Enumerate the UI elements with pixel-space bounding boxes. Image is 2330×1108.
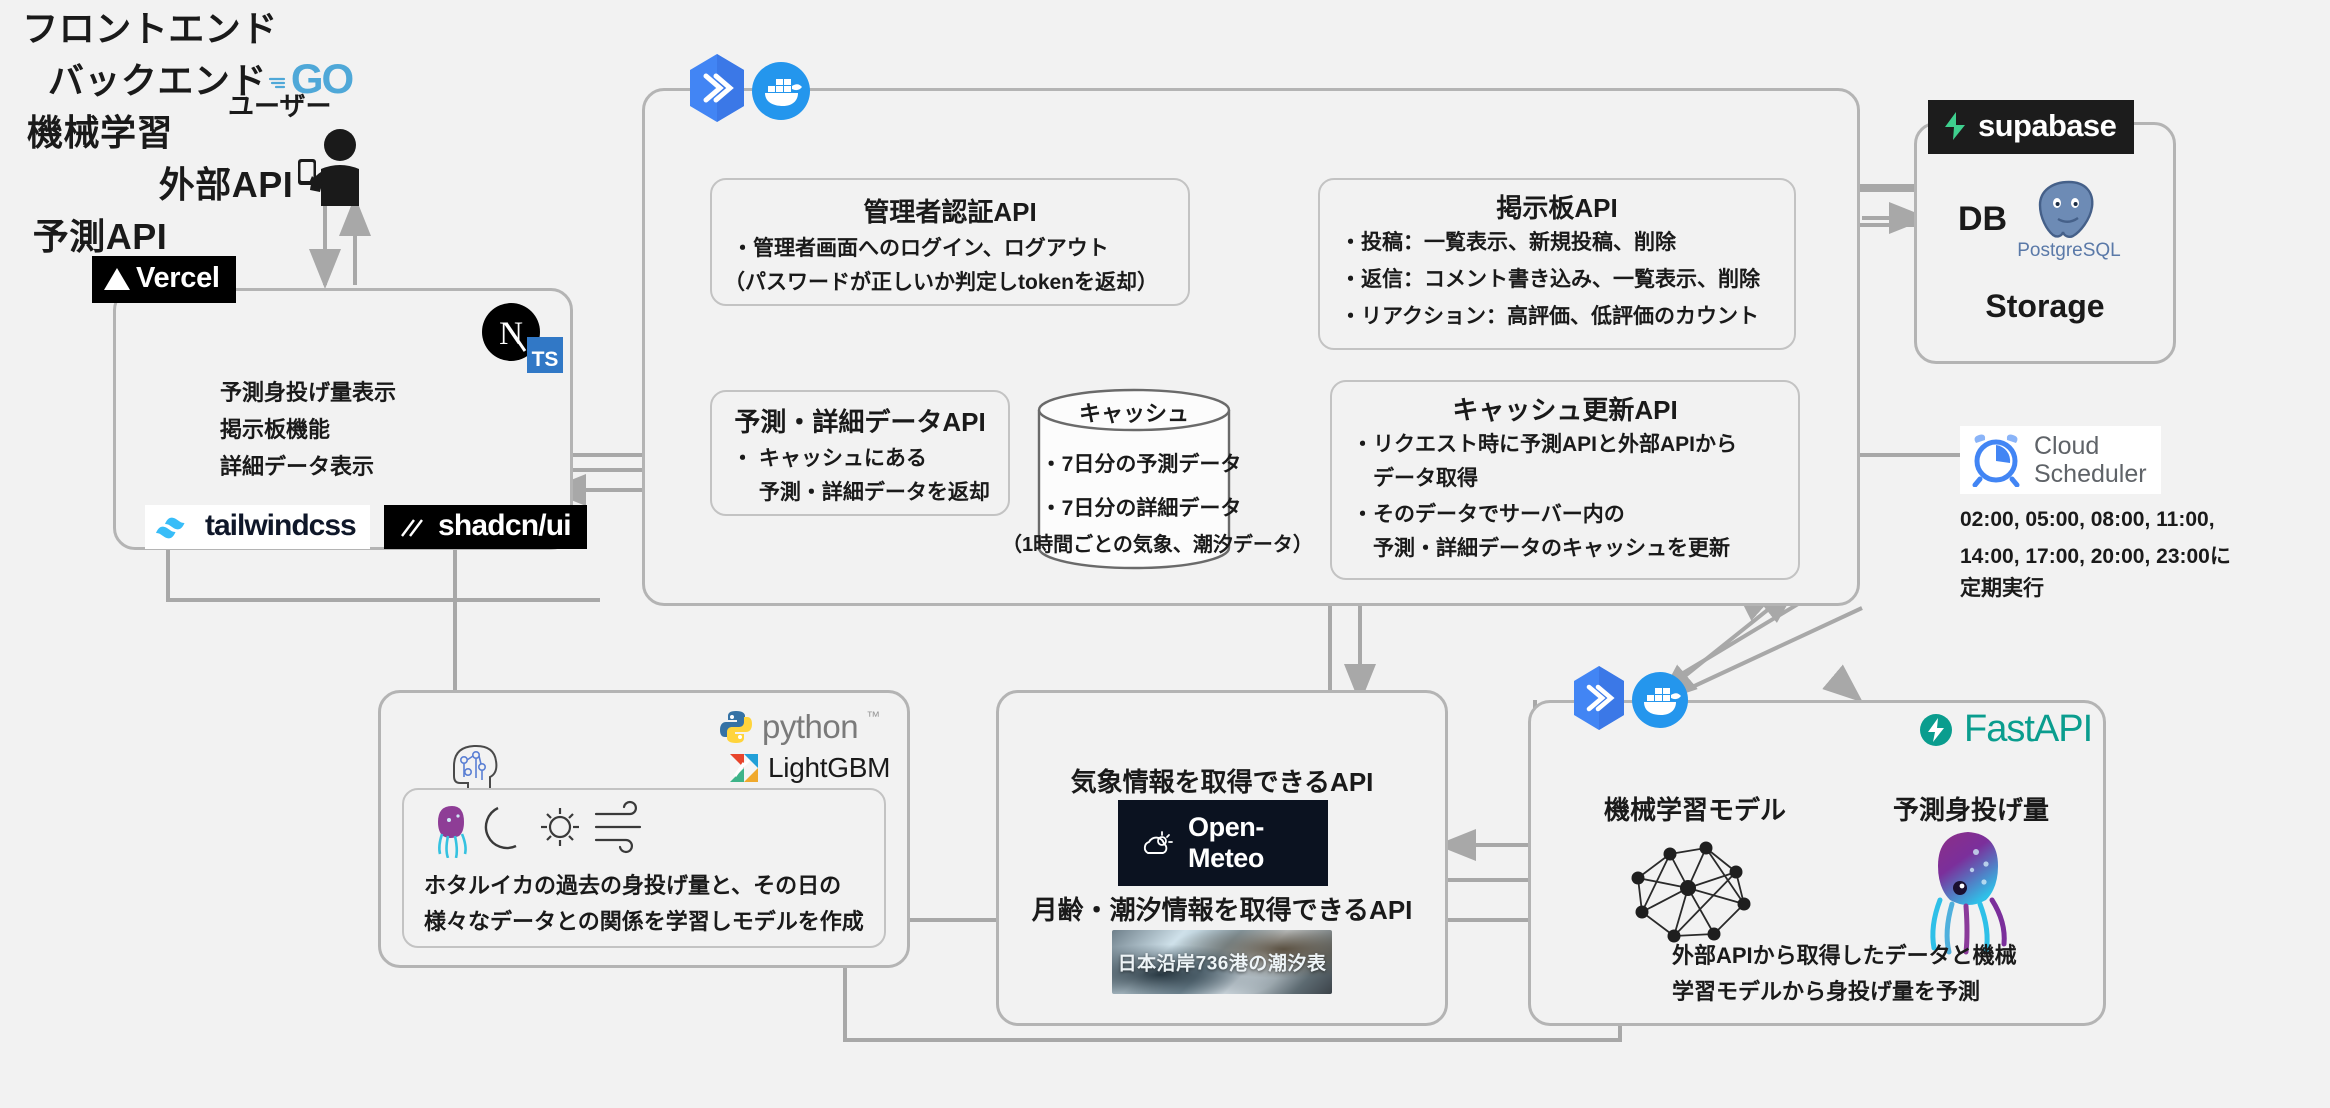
lightgbm-badge: LightGBM [728, 752, 890, 784]
cloudrun-icon-backend [686, 52, 748, 124]
prediction-detail-data-api-title: 予測・詳細データAPI [710, 402, 1010, 439]
supabase-storage-label: Storage [1914, 288, 2176, 325]
docker-icon-backend [752, 62, 810, 120]
python-logo-icon [718, 709, 754, 745]
cloud-scheduler-line-2: Scheduler [2034, 460, 2147, 488]
python-badge: python ™ [718, 708, 880, 746]
board-api-line-3: ・リアクション：高評価、低評価のカウント [1340, 300, 1759, 334]
board-api-line-1: ・投稿：一覧表示、新規投稿、削除 [1340, 226, 1676, 260]
admin-auth-api-line-1: ・管理者画面へのログイン、ログアウト [732, 232, 1109, 266]
cache-update-api-line-1: ・リクエスト時に予測APIと外部APIから [1352, 428, 1737, 462]
prediction-api-title: 予測API [0, 208, 200, 260]
tailwindcss-badge: tailwindcss [145, 505, 370, 549]
neural-network-icon [1618, 830, 1760, 952]
prediction-api-model-label: 機械学習モデル [1570, 790, 1820, 827]
user-label: ユーザー [228, 86, 331, 123]
cloud-scheduler-line-1: Cloud [2034, 432, 2147, 460]
admin-auth-api-title: 管理者認証API [710, 192, 1190, 229]
external-api-weather-caption: 気象情報を取得できるAPI [996, 762, 1448, 799]
ml-feature-icons [432, 800, 662, 858]
prediction-detail-data-api-line-2: 予測・詳細データを返却 [732, 476, 990, 510]
cache-title: キャッシュ [1036, 396, 1232, 428]
docker-icon-prediction [1632, 672, 1688, 728]
fastapi-badge: FastAPI [1918, 708, 2092, 751]
squid-icon-prediction [1916, 828, 2020, 956]
cache-note: （1時間ごとの気象、潮汐データ） [1002, 528, 1274, 557]
cache-line-1: ・7日分の予測データ [1036, 448, 1246, 478]
frontend-feature-1: 予測身投げ量表示 [220, 375, 396, 411]
fastapi-logo-icon [1918, 712, 1954, 748]
prediction-detail-data-api-line-1: ・ キャッシュにある [732, 442, 927, 476]
machine-learning-title: 機械学習 [0, 104, 200, 156]
cache-update-api-line-4: 予測・詳細データのキャッシュを更新 [1352, 532, 1730, 566]
shadcn-slash-icon [398, 514, 426, 538]
prediction-api-description-line-1: 外部APIから取得したデータと機械 [1672, 938, 2017, 970]
frontend-feature-2: 掲示板機能 [220, 412, 330, 448]
board-api-line-2: ・返信：コメント書き込み、一覧表示、削除 [1340, 263, 1760, 297]
ml-description-line-2: 様々なデータとの関係を学習しモデルを作成 [424, 904, 864, 936]
vercel-triangle-icon [104, 268, 130, 290]
cache-line-2: ・7日分の詳細データ [1036, 492, 1246, 522]
open-meteo-badge: Open-Meteo [1118, 800, 1328, 886]
admin-auth-api-line-2: （パスワードが正しいか判定しtokenを返却） [724, 266, 1158, 300]
lightgbm-logo-icon [728, 752, 760, 784]
external-api-tide-caption: 月齢・潮汐情報を取得できるAPI [996, 890, 1448, 927]
ml-description-line-1: ホタルイカの過去の身投げ量と、その日の [424, 868, 841, 900]
cloudrun-icon-prediction [1570, 664, 1628, 732]
board-api-title: 掲示板API [1318, 188, 1796, 225]
scheduler-schedule-line-2: 14:00, 17:00, 20:00, 23:00に [1960, 540, 2231, 570]
frontend-feature-3: 詳細データ表示 [220, 449, 374, 485]
external-api-title: 外部API [0, 156, 452, 208]
prediction-api-output-label: 予測身投げ量 [1846, 790, 2096, 827]
cache-update-api-title: キャッシュ更新API [1330, 390, 1800, 427]
typescript-logo-icon: TS [527, 337, 563, 373]
scheduler-schedule-line-1: 02:00, 05:00, 08:00, 11:00, [1960, 508, 2215, 532]
backend-title: バックエンド GO [0, 52, 400, 104]
tide-table-image: 日本沿岸736港の潮汐表 [1112, 930, 1332, 994]
partly-cloudy-icon [1142, 829, 1176, 857]
postgresql-elephant-icon [2030, 178, 2108, 244]
svg-text:N: N [499, 316, 523, 352]
frontend-title: フロントエンド [0, 0, 300, 52]
person-with-phone-icon [288, 128, 374, 206]
vercel-badge: Vercel [92, 256, 236, 303]
tailwind-wave-icon [155, 513, 195, 539]
cache-update-api-line-3: ・そのデータでサーバー内の [1352, 498, 1625, 532]
alarm-clock-icon [1968, 433, 2024, 487]
supabase-bolt-icon [1942, 111, 1968, 141]
scheduler-schedule-line-3: 定期実行 [1960, 572, 2044, 602]
prediction-api-description-line-2: 学習モデルから身投げ量を予測 [1672, 974, 1980, 1006]
supabase-db-label: DB [1958, 200, 2007, 239]
cloud-scheduler-badge: Cloud Scheduler [1960, 426, 2161, 494]
shadcn-ui-badge: shadcn/ui [384, 505, 587, 549]
postgresql-label: PostgreSQL [2014, 240, 2124, 262]
tide-table-caption: 日本沿岸736港の潮汐表 [1112, 949, 1332, 976]
supabase-badge: supabase [1928, 100, 2134, 154]
cache-update-api-line-2: データ取得 [1352, 462, 1478, 496]
